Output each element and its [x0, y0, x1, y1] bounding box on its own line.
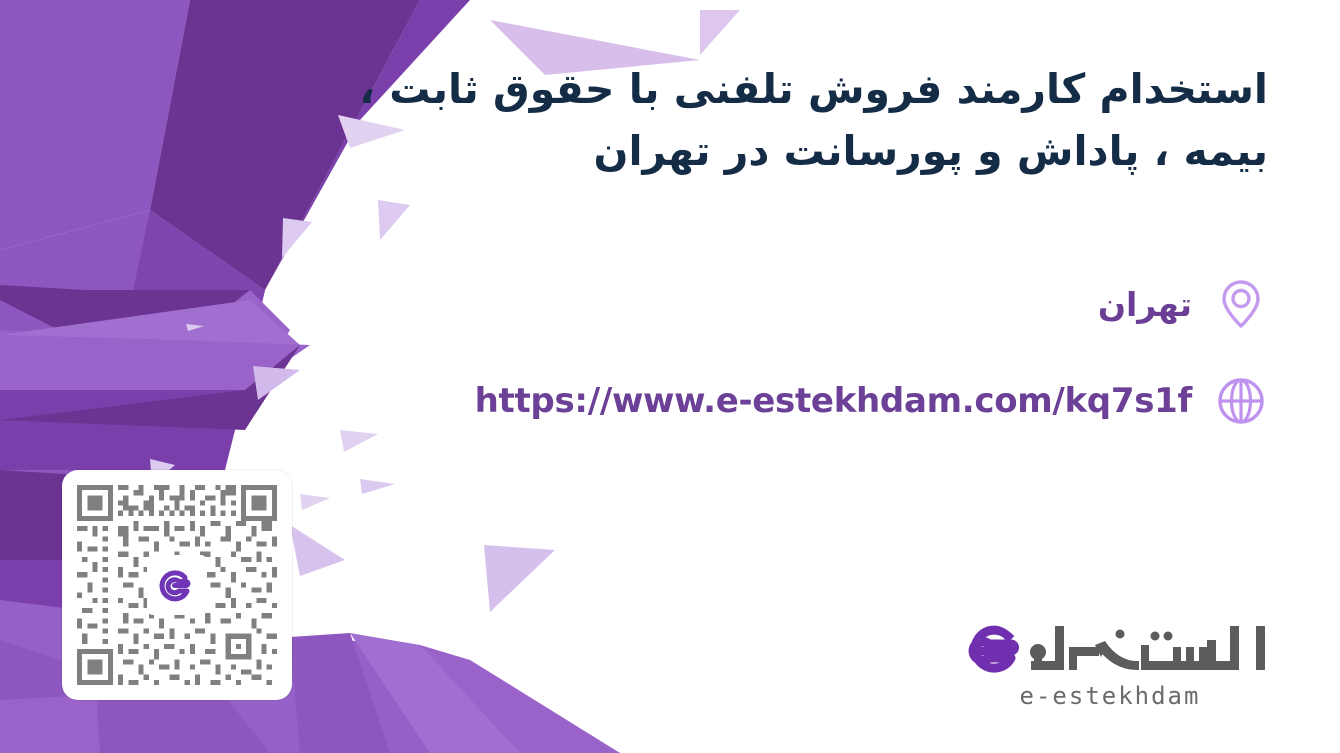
page-title: استخدام کارمند فروش تلفنی با حقوق ثابت ،…	[358, 58, 1268, 183]
location-pin-icon	[1214, 277, 1268, 331]
brand-wordmark-en: e-estekhdam	[945, 682, 1275, 710]
website-url-label[interactable]: https://www.e-estekhdam.com/kq7s1f	[475, 384, 1192, 418]
location-row: تهران	[1098, 277, 1268, 331]
brand-logo: e-estekhdam	[945, 614, 1275, 710]
job-title-text: استخدام کارمند فروش تلفنی با حقوق ثابت ،…	[358, 58, 1268, 183]
globe-icon	[1214, 374, 1268, 428]
website-row[interactable]: https://www.e-estekhdam.com/kq7s1f	[475, 374, 1268, 428]
location-label: تهران	[1098, 288, 1192, 321]
brand-wordmark-fa	[945, 614, 1275, 684]
job-share-card: استخدام کارمند فروش تلفنی با حقوق ثابت ،…	[0, 0, 1340, 753]
qr-code[interactable]	[62, 470, 292, 700]
qr-center-logo	[147, 555, 207, 615]
